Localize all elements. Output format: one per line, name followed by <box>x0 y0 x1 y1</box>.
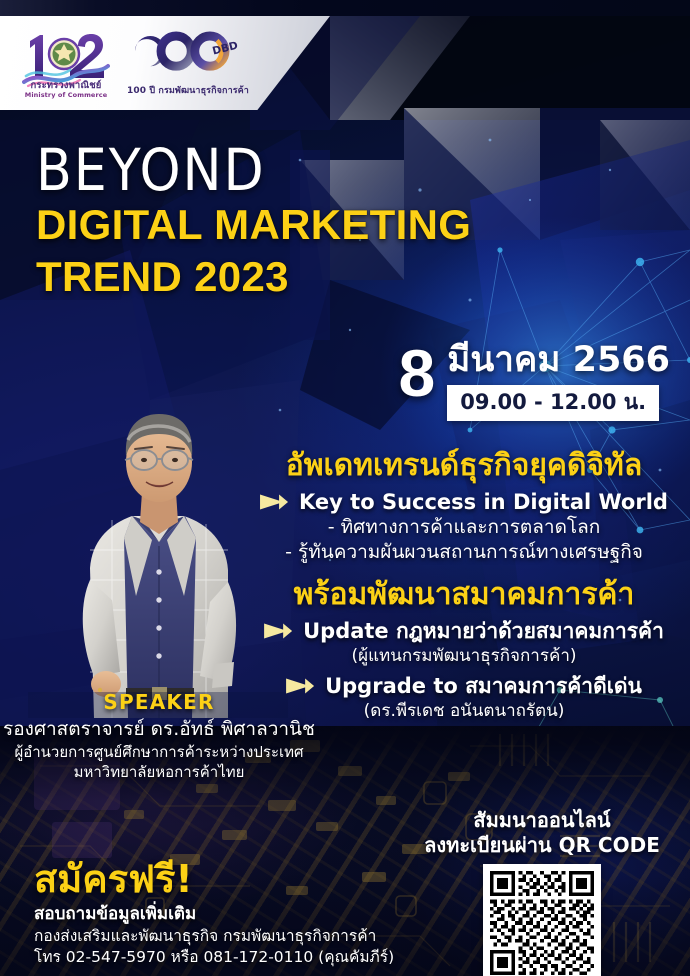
registration-line-online: สัมมนาออนไลน์ <box>418 808 666 833</box>
event-day: 8 <box>399 342 436 404</box>
poster-title: BEYOND DIGITAL MARKETING TREND 2023 <box>36 140 636 302</box>
sub-line-economic-volatility: - รู้ทันความผันผวนสถานการณ์ทางเศรษฐกิจ <box>252 540 676 565</box>
event-time-badge: 09.00 - 12.00 น. <box>447 385 659 421</box>
ded-100-years-logo: DBD 100 ปี กรมพัฒนาธุรกิจการค้า <box>124 28 252 98</box>
top-dark-strip <box>0 0 690 16</box>
ded-logo-caption: 100 ปี กรมพัฒนาธุรกิจการค้า <box>124 86 252 97</box>
chevron-arrow-icon <box>264 623 292 640</box>
sub-line-trade-direction: - ทิศทางการค้าและการตลาดโลก <box>252 515 676 540</box>
registration-line-qr: ลงทะเบียนผ่าน QR CODE <box>418 833 666 858</box>
moc-logo-caption: กระทรวงพาณิชย์ Ministry of Commerce <box>22 80 110 99</box>
contact-phone: โทร 02-547-5970 หรือ 081-172-0110 (คุณคั… <box>34 947 454 968</box>
chevron-arrow-icon <box>286 678 314 695</box>
section-heading-trade-association: พร้อมพัฒนาสมาคมการค้า <box>252 577 676 613</box>
qr-code[interactable] <box>483 864 601 976</box>
bullet-upgrade-association: Upgrade to สมาคมการค้าดีเด่น <box>252 673 676 699</box>
bullet-key-to-success: Key to Success in Digital World <box>252 489 676 515</box>
speaker-affiliation: มหาวิทยาลัยหอการค้าไทย <box>0 762 318 782</box>
agenda-content: อัพเดทเทรนด์ธุรกิจยุคดิจิทัล Key to Succ… <box>252 448 676 723</box>
event-date-right: มีนาคม 2566 09.00 - 12.00 น. <box>447 340 670 421</box>
contact-heading: สอบถามข้อมูลเพิ่มเติม <box>34 903 454 926</box>
title-line-digital-marketing: DIGITAL MARKETING <box>36 200 636 250</box>
paren-line-ded-representative: (ผู้แทนกรมพัฒนาธุรกิจการค้า) <box>252 644 676 668</box>
poster-root: กระทรวงพาณิชย์ Ministry of Commerce <box>0 0 690 976</box>
register-free-headline: สมัครฟรี! <box>34 856 454 902</box>
speaker-role: ผู้อำนวยการศูนย์ศึกษาการค้าระหว่างประเทศ <box>0 742 318 762</box>
event-date-block: 8 มีนาคม 2566 09.00 - 12.00 น. <box>399 340 670 421</box>
title-line-beyond: BEYOND <box>36 140 636 200</box>
bullet-label: Update กฎหมายว่าด้วยสมาคมการค้า <box>303 618 664 644</box>
bullet-label: Key to Success in Digital World <box>299 489 668 515</box>
chevron-arrow-icon <box>260 494 288 511</box>
moc-102-anniversary-logo: กระทรวงพาณิชย์ Ministry of Commerce <box>22 26 110 100</box>
bullet-label: Upgrade to สมาคมการค้าดีเด่น <box>325 673 642 699</box>
footer-contact: สมัครฟรี! สอบถามข้อมูลเพิ่มเติม กองส่งเส… <box>34 856 454 968</box>
section-heading-digital-trend: อัพเดทเทรนด์ธุรกิจยุคดิจิทัล <box>252 448 676 484</box>
event-month-year: มีนาคม 2566 <box>447 340 670 380</box>
title-line-trend-2023: TREND 2023 <box>36 252 636 302</box>
paren-line-speaker-peeradej: (ดร.พีรเดช อนันตนาถรัตน) <box>252 699 676 723</box>
bullet-update-law: Update กฎหมายว่าด้วยสมาคมการค้า <box>252 618 676 644</box>
contact-organization: กองส่งเสริมและพัฒนาธุรกิจ กรมพัฒนาธุรกิจ… <box>34 926 454 947</box>
speaker-portrait <box>28 400 288 718</box>
registration-block: สัมมนาออนไลน์ ลงทะเบียนผ่าน QR CODE <box>418 808 666 976</box>
